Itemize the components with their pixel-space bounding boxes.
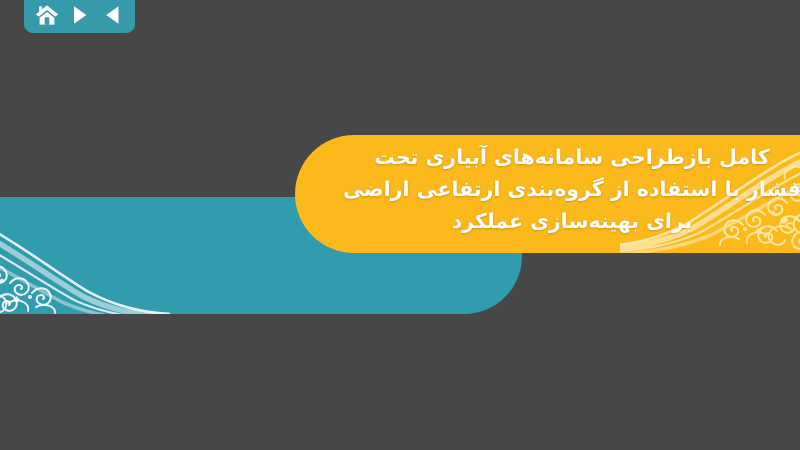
arabesque-ornament-icon <box>0 197 170 314</box>
home-icon <box>35 4 59 26</box>
navigation-bar <box>24 0 135 33</box>
triangle-right-icon <box>70 5 89 25</box>
title-line-1: کامل بازطراحی سامانه‌های آبیاری تحت <box>337 141 800 173</box>
triangle-left-icon <box>103 5 122 25</box>
back-button[interactable] <box>99 2 126 28</box>
slide-canvas: کامل بازطراحی سامانه‌های آبیاری تحت فشار… <box>0 0 800 450</box>
orange-banner: کامل بازطراحی سامانه‌های آبیاری تحت فشار… <box>295 135 800 253</box>
slide-title: کامل بازطراحی سامانه‌های آبیاری تحت فشار… <box>337 141 800 237</box>
title-line-3: برای بهینه‌سازی عملکرد <box>337 205 800 237</box>
home-button[interactable] <box>33 2 60 28</box>
forward-button[interactable] <box>66 2 93 28</box>
title-line-2: فشار با استفاده از گروه‌بندی ارتفاعی ارا… <box>337 173 800 205</box>
